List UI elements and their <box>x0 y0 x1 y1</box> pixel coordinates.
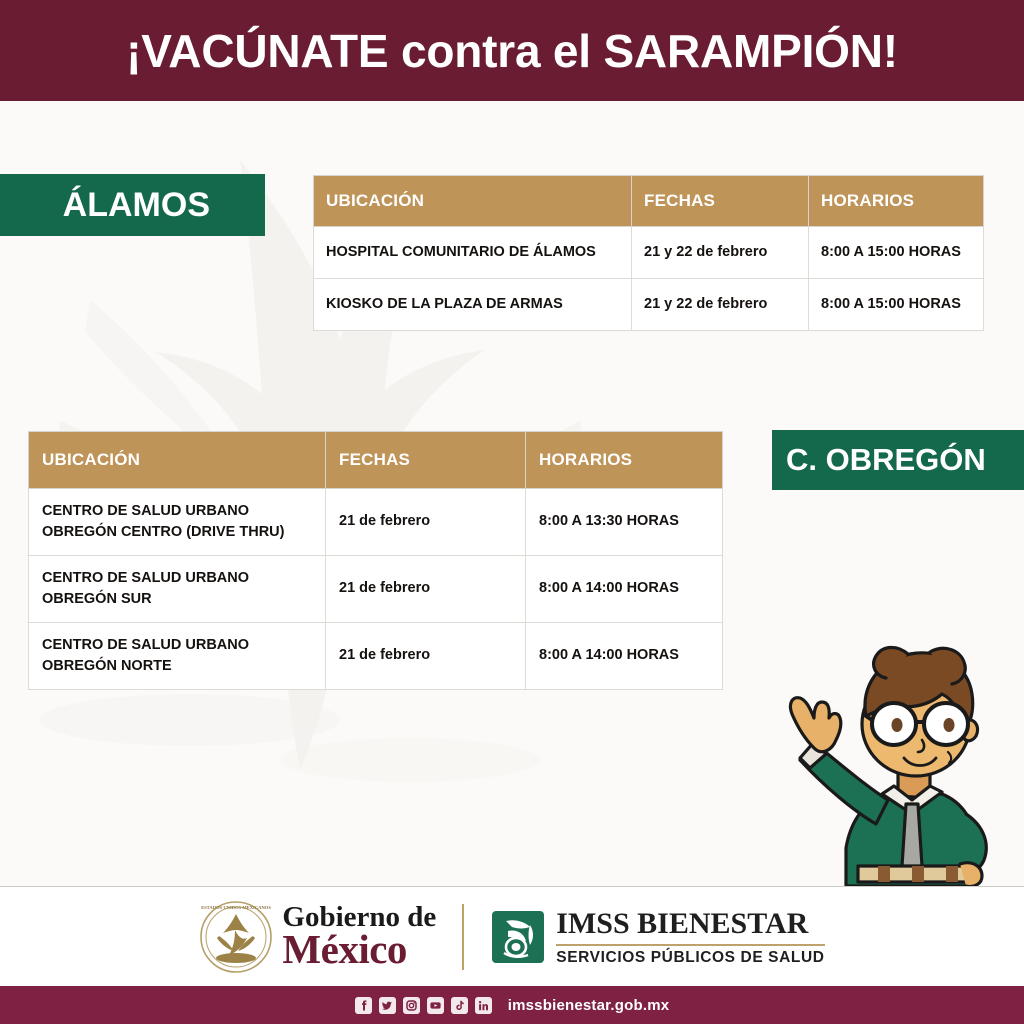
cell-ubicacion: CENTRO DE SALUD URBANO OBREGÓN NORTE <box>29 623 326 690</box>
cell-fechas: 21 de febrero <box>326 556 526 623</box>
mexican-eagle-seal-icon: ESTADOS UNIDOS MEXICANOS <box>199 900 273 974</box>
twitter-icon[interactable] <box>379 997 396 1014</box>
facebook-icon[interactable] <box>355 997 372 1014</box>
column-header-horarios: HORARIOS <box>809 176 984 227</box>
cell-fechas: 21 de febrero <box>326 623 526 690</box>
instagram-icon[interactable] <box>403 997 420 1014</box>
website-url[interactable]: imssbienestar.gob.mx <box>508 997 670 1014</box>
table-row: CENTRO DE SALUD URBANO OBREGÓN SUR 21 de… <box>29 556 723 623</box>
column-header-fechas: FECHAS <box>326 432 526 489</box>
cell-horarios: 8:00 A 13:30 HORAS <box>526 489 723 556</box>
table-header-row: UBICACIÓN FECHAS HORARIOS <box>29 432 723 489</box>
tiktok-icon[interactable] <box>451 997 468 1014</box>
table-header-row: UBICACIÓN FECHAS HORARIOS <box>314 176 984 227</box>
city-label-alamos: ÁLAMOS <box>0 174 265 236</box>
gobierno-de-mexico-logo: ESTADOS UNIDOS MEXICANOS Gobierno de Méx… <box>199 900 436 974</box>
cell-horarios: 8:00 A 15:00 HORAS <box>809 227 984 279</box>
table-row: CENTRO DE SALUD URBANO OBREGÓN CENTRO (D… <box>29 489 723 556</box>
table-row: KIOSKO DE LA PLAZA DE ARMAS 21 y 22 de f… <box>314 279 984 331</box>
city-label-alamos-text: ÁLAMOS <box>63 186 210 225</box>
imss-bienestar-logo: IMSS BIENESTAR SERVICIOS PÚBLICOS DE SAL… <box>490 907 824 967</box>
schedule-table-obregon: UBICACIÓN FECHAS HORARIOS CENTRO DE SALU… <box>28 431 723 690</box>
cell-horarios: 8:00 A 14:00 HORAS <box>526 623 723 690</box>
social-bar: imssbienestar.gob.mx <box>0 986 1024 1024</box>
column-header-ubicacion: UBICACIÓN <box>314 176 632 227</box>
cell-fechas: 21 y 22 de febrero <box>632 279 809 331</box>
gobierno-line2: México <box>282 931 436 969</box>
linkedin-icon[interactable] <box>475 997 492 1014</box>
cell-fechas: 21 y 22 de febrero <box>632 227 809 279</box>
cell-ubicacion: CENTRO DE SALUD URBANO OBREGÓN SUR <box>29 556 326 623</box>
pointing-boy-illustration <box>770 628 1020 890</box>
cell-horarios: 8:00 A 15:00 HORAS <box>809 279 984 331</box>
logo-separator <box>462 904 464 970</box>
column-header-ubicacion: UBICACIÓN <box>29 432 326 489</box>
column-header-horarios: HORARIOS <box>526 432 723 489</box>
imss-eagle-logo-icon <box>490 909 546 965</box>
column-header-fechas: FECHAS <box>632 176 809 227</box>
cell-fechas: 21 de febrero <box>326 489 526 556</box>
page-title: ¡VACÚNATE contra el SARAMPIÓN! <box>126 28 898 74</box>
imss-line1: IMSS BIENESTAR <box>556 907 824 946</box>
city-label-obregon: C. OBREGÓN <box>772 430 1024 490</box>
cell-ubicacion: KIOSKO DE LA PLAZA DE ARMAS <box>314 279 632 331</box>
footer-logos-bar: ESTADOS UNIDOS MEXICANOS Gobierno de Méx… <box>0 887 1024 986</box>
table-row: CENTRO DE SALUD URBANO OBREGÓN NORTE 21 … <box>29 623 723 690</box>
cell-ubicacion: HOSPITAL COMUNITARIO DE ÁLAMOS <box>314 227 632 279</box>
poster-canvas: ¡VACÚNATE contra el SARAMPIÓN! ÁLAMOS UB… <box>0 0 1024 1024</box>
cell-ubicacion: CENTRO DE SALUD URBANO OBREGÓN CENTRO (D… <box>29 489 326 556</box>
imss-line2: SERVICIOS PÚBLICOS DE SALUD <box>556 946 824 967</box>
city-label-obregon-text: C. OBREGÓN <box>786 442 986 478</box>
table-row: HOSPITAL COMUNITARIO DE ÁLAMOS 21 y 22 d… <box>314 227 984 279</box>
schedule-table-alamos: UBICACIÓN FECHAS HORARIOS HOSPITAL COMUN… <box>313 175 984 331</box>
cell-horarios: 8:00 A 14:00 HORAS <box>526 556 723 623</box>
youtube-icon[interactable] <box>427 997 444 1014</box>
svg-text:ESTADOS UNIDOS MEXICANOS: ESTADOS UNIDOS MEXICANOS <box>201 905 271 910</box>
header-banner: ¡VACÚNATE contra el SARAMPIÓN! <box>0 0 1024 101</box>
